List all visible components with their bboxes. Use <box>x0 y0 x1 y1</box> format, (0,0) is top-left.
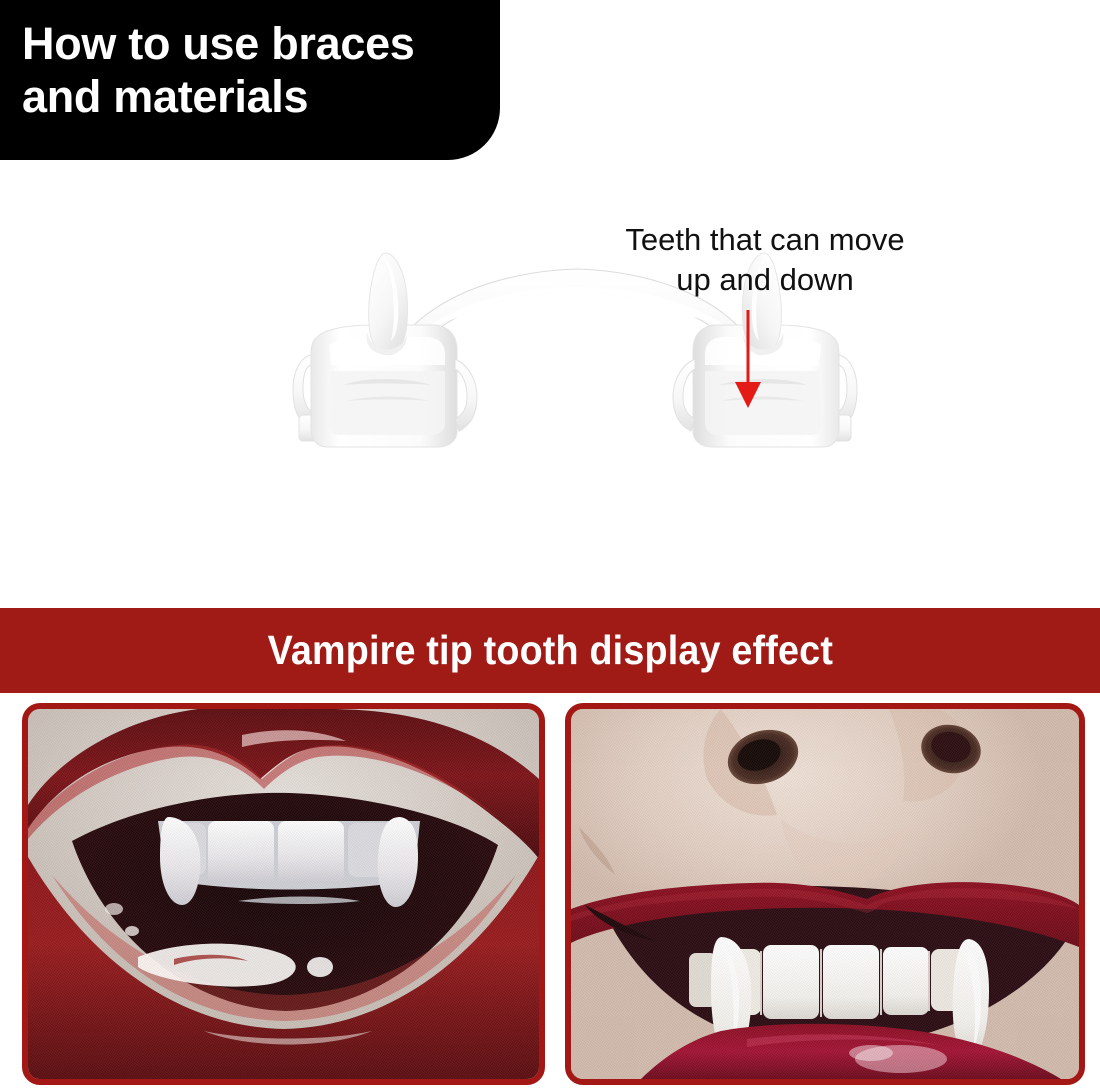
photo-grain-texture <box>571 709 1079 1079</box>
page-title: How to use braces and materials <box>22 18 476 123</box>
photo-grain-texture <box>28 709 539 1079</box>
arrow-down-icon <box>718 308 778 418</box>
product-illustration-area: Teeth that can move up and down Edible r… <box>0 160 1100 608</box>
photo-gallery <box>0 693 1100 1089</box>
header-banner: How to use braces and materials <box>0 0 500 160</box>
section-banner-title: Vampire tip tooth display effect <box>267 627 833 674</box>
photo-smile-fangs <box>565 703 1085 1085</box>
section-banner-vampire-effect: Vampire tip tooth display effect <box>0 608 1100 693</box>
photo-glossy-lips-fangs <box>22 703 545 1085</box>
callout-teeth-move-label: Teeth that can move up and down <box>585 220 945 299</box>
